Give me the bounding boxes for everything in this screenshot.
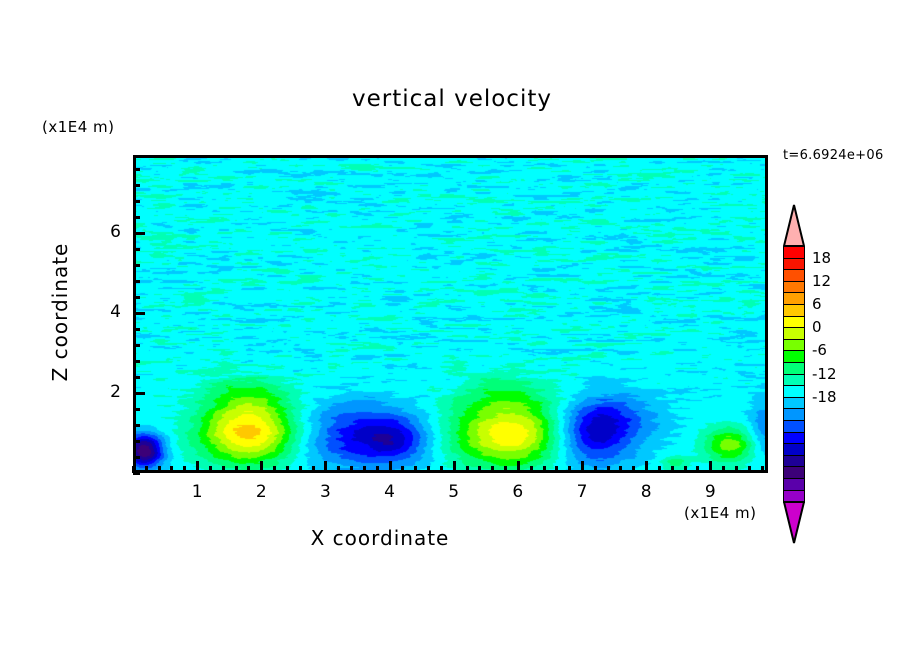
x-axis-minor-tick	[594, 466, 597, 473]
colorbar-over-arrow	[783, 204, 805, 246]
x-axis-minor-tick	[350, 466, 353, 473]
x-axis-minor-tick	[491, 466, 494, 473]
y-axis-tick-label: 4	[85, 302, 121, 322]
x-axis-minor-tick	[145, 466, 148, 473]
colorbar-tick-label: -18	[812, 388, 837, 406]
x-axis-minor-tick	[530, 466, 533, 473]
x-axis-minor-tick	[632, 466, 635, 473]
y-axis-minor-tick	[133, 408, 140, 411]
x-axis-major-tick	[324, 461, 327, 473]
x-axis-units-label: (x1E4 m)	[684, 504, 757, 522]
x-axis-minor-tick	[722, 466, 725, 473]
y-axis-minor-tick	[133, 184, 140, 187]
colorbar-tick-label: 6	[812, 295, 822, 313]
y-axis-minor-tick	[133, 472, 140, 475]
x-axis-minor-tick	[170, 466, 173, 473]
x-axis-minor-tick	[247, 466, 250, 473]
colorbar-tick-label: -12	[812, 365, 837, 383]
y-axis-tick-label: 6	[85, 222, 121, 242]
y-axis-minor-tick	[133, 440, 140, 443]
y-axis-minor-tick	[133, 328, 140, 331]
x-axis-major-tick	[453, 461, 456, 473]
x-axis-tick-label: 9	[690, 482, 730, 502]
x-axis-title: X coordinate	[0, 526, 760, 550]
x-axis-tick-label: 6	[498, 482, 538, 502]
x-axis-minor-tick	[619, 466, 622, 473]
x-axis-minor-tick	[427, 466, 430, 473]
y-axis-minor-tick	[133, 264, 140, 267]
y-axis-major-tick	[133, 312, 145, 315]
x-axis-major-tick	[389, 461, 392, 473]
x-axis-minor-tick	[735, 466, 738, 473]
x-axis-minor-tick	[671, 466, 674, 473]
x-axis-minor-tick	[761, 466, 764, 473]
x-axis-minor-tick	[209, 466, 212, 473]
x-axis-minor-tick	[183, 466, 186, 473]
x-axis-minor-tick	[748, 466, 751, 473]
y-axis-minor-tick	[133, 456, 140, 459]
x-axis-major-tick	[260, 461, 263, 473]
x-axis-minor-tick	[478, 466, 481, 473]
x-axis-minor-tick	[222, 466, 225, 473]
x-axis-minor-tick	[158, 466, 161, 473]
x-axis-major-tick	[196, 461, 199, 473]
x-axis-minor-tick	[363, 466, 366, 473]
colorbar-tick-label: 18	[812, 249, 831, 267]
x-axis-minor-tick	[440, 466, 443, 473]
x-axis-minor-tick	[607, 466, 610, 473]
x-axis-minor-tick	[684, 466, 687, 473]
y-axis-minor-tick	[133, 280, 140, 283]
y-axis-major-tick	[133, 232, 145, 235]
x-axis-minor-tick	[504, 466, 507, 473]
x-axis-minor-tick	[235, 466, 238, 473]
y-axis-minor-tick	[133, 200, 140, 203]
x-axis-minor-tick	[414, 466, 417, 473]
x-axis-minor-tick	[376, 466, 379, 473]
x-axis-major-tick	[709, 461, 712, 473]
contour-field-plot	[133, 155, 768, 473]
x-axis-tick-label: 4	[370, 482, 410, 502]
x-axis-minor-tick	[555, 466, 558, 473]
x-axis-major-tick	[581, 461, 584, 473]
colorbar-tick-label: 0	[812, 318, 822, 336]
x-axis-minor-tick	[568, 466, 571, 473]
x-axis-minor-tick	[337, 466, 340, 473]
x-axis-minor-tick	[543, 466, 546, 473]
y-axis-title: Z coordinate	[48, 212, 72, 412]
x-axis-tick-label: 1	[177, 482, 217, 502]
colorbar-tick-label: -6	[812, 341, 827, 359]
x-axis-tick-label: 3	[305, 482, 345, 502]
x-axis-minor-tick	[466, 466, 469, 473]
x-axis-major-tick	[645, 461, 648, 473]
colorbar: 181260-6-12-18	[772, 204, 832, 524]
x-axis-tick-label: 5	[434, 482, 474, 502]
x-axis-major-tick	[517, 461, 520, 473]
colorbar-under-arrow	[783, 501, 805, 543]
x-axis-minor-tick	[273, 466, 276, 473]
y-axis-minor-tick	[133, 344, 140, 347]
x-axis-minor-tick	[696, 466, 699, 473]
y-axis-tick-label: 2	[85, 382, 121, 402]
x-axis-minor-tick	[286, 466, 289, 473]
time-annotation: t=6.6924e+06	[783, 148, 884, 163]
x-axis-minor-tick	[312, 466, 315, 473]
x-axis-minor-tick	[299, 466, 302, 473]
chart-title: vertical velocity	[0, 86, 904, 112]
colorbar-tick-label: 12	[812, 272, 831, 290]
x-axis-minor-tick	[658, 466, 661, 473]
x-axis-minor-tick	[401, 466, 404, 473]
y-axis-major-tick	[133, 392, 145, 395]
y-axis-units-label: (x1E4 m)	[42, 118, 115, 136]
y-axis-minor-tick	[133, 296, 140, 299]
y-axis-minor-tick	[133, 168, 140, 171]
x-axis-tick-label: 2	[241, 482, 281, 502]
x-axis-tick-label: 8	[626, 482, 666, 502]
y-axis-minor-tick	[133, 376, 140, 379]
y-axis-minor-tick	[133, 248, 140, 251]
y-axis-minor-tick	[133, 216, 140, 219]
y-axis-minor-tick	[133, 360, 140, 363]
y-axis-minor-tick	[133, 424, 140, 427]
x-axis-tick-label: 7	[562, 482, 602, 502]
